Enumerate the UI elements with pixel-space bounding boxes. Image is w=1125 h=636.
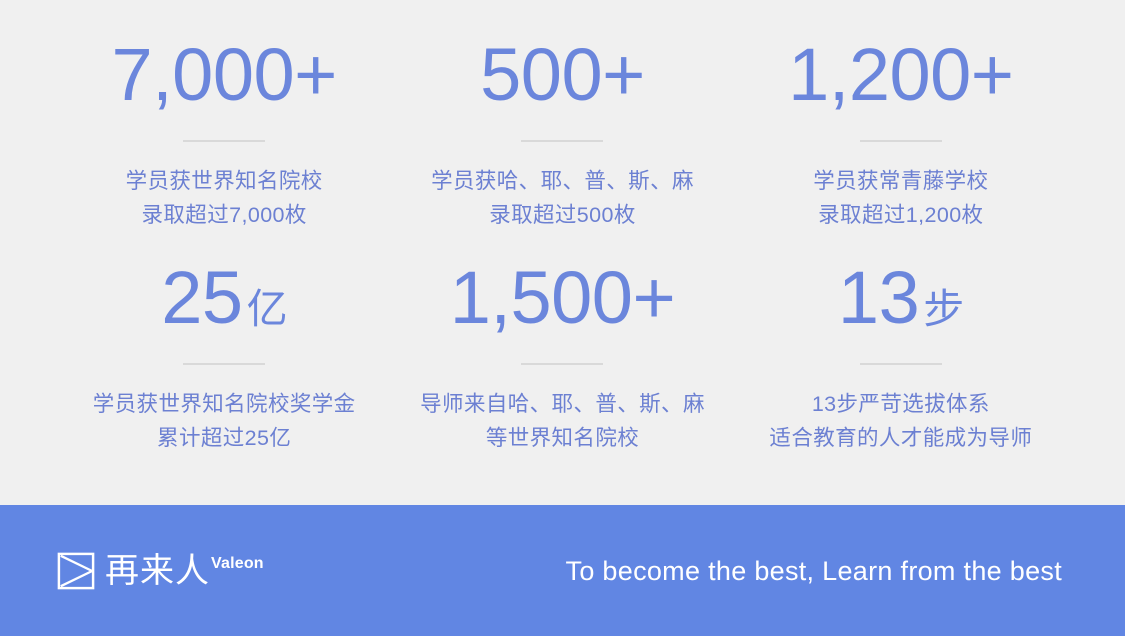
stat-description: 13步严苛选拔体系 适合教育的人才能成为导师: [769, 387, 1032, 455]
stat-description-line: 13步严苛选拔体系: [769, 387, 1032, 421]
stat-description-line: 适合教育的人才能成为导师: [769, 421, 1032, 455]
stat-value-number: 13: [838, 261, 919, 335]
footer-bar: 再来人 Valeon To become the best, Learn fro…: [0, 505, 1125, 636]
stat-value-number: 1,500+: [450, 261, 675, 335]
stat-card: 1,500+ 导师来自哈、耶、普、斯、麻 等世界知名院校: [393, 261, 731, 484]
stat-description-line: 录取超过7,000枚: [126, 198, 323, 232]
stat-description: 学员获常青藤学校 录取超过1,200枚: [813, 164, 988, 232]
stat-value-number: 25: [161, 261, 242, 335]
stat-divider: [860, 140, 942, 142]
stats-page: 7,000+ 学员获世界知名院校 录取超过7,000枚 500+ 学员获哈、耶、…: [0, 0, 1125, 636]
stat-description-line: 导师来自哈、耶、普、斯、麻: [420, 387, 705, 421]
stat-value-unit: 亿: [247, 289, 288, 330]
brand-name-cn: 再来人: [105, 552, 210, 590]
stat-value-number: 1,200+: [788, 38, 1013, 112]
stat-value: 7,000+: [111, 38, 336, 122]
stat-divider: [183, 140, 265, 142]
stat-divider: [860, 363, 942, 365]
brand-name-en: Valeon: [211, 554, 264, 574]
stat-card: 25 亿 学员获世界知名院校奖学金 累计超过25亿: [55, 261, 393, 484]
brand-wordmark: 再来人 Valeon: [105, 552, 264, 590]
stat-value-number: 500+: [480, 38, 645, 112]
stat-description-line: 学员获常青藤学校: [813, 164, 988, 198]
valeon-square-k-icon: [57, 552, 95, 590]
stat-card: 500+ 学员获哈、耶、普、斯、麻 录取超过500枚: [393, 38, 731, 261]
stat-card: 1,200+ 学员获常青藤学校 录取超过1,200枚: [732, 38, 1070, 261]
stat-description-line: 录取超过1,200枚: [813, 198, 988, 232]
stat-description: 学员获世界知名院校 录取超过7,000枚: [126, 164, 323, 232]
stat-value: 1,200+: [788, 38, 1013, 122]
stat-value: 1,500+: [450, 261, 675, 345]
brand-logo[interactable]: 再来人 Valeon: [57, 552, 264, 590]
stat-description-line: 学员获世界知名院校奖学金: [93, 387, 356, 421]
stat-card: 13 步 13步严苛选拔体系 适合教育的人才能成为导师: [732, 261, 1070, 484]
stats-grid: 7,000+ 学员获世界知名院校 录取超过7,000枚 500+ 学员获哈、耶、…: [55, 38, 1070, 484]
stat-description-line: 累计超过25亿: [93, 421, 356, 455]
stat-description-line: 学员获哈、耶、普、斯、麻: [431, 164, 694, 198]
stat-description: 学员获哈、耶、普、斯、麻 录取超过500枚: [431, 164, 694, 232]
stat-value: 13 步: [838, 261, 964, 345]
stat-description-line: 学员获世界知名院校: [126, 164, 323, 198]
stat-divider: [521, 363, 603, 365]
footer-tagline: To become the best, Learn from the best: [566, 554, 1062, 588]
stat-description: 导师来自哈、耶、普、斯、麻 等世界知名院校: [420, 387, 705, 455]
stat-value-number: 7,000+: [111, 38, 336, 112]
stat-description: 学员获世界知名院校奖学金 累计超过25亿: [93, 387, 356, 455]
stat-divider: [183, 363, 265, 365]
stat-value-unit: 步: [923, 289, 964, 330]
stat-card: 7,000+ 学员获世界知名院校 录取超过7,000枚: [55, 38, 393, 261]
stats-section: 7,000+ 学员获世界知名院校 录取超过7,000枚 500+ 学员获哈、耶、…: [0, 0, 1125, 505]
stat-divider: [521, 140, 603, 142]
stat-value: 25 亿: [161, 261, 287, 345]
stat-description-line: 录取超过500枚: [431, 198, 694, 232]
stat-description-line: 等世界知名院校: [420, 421, 705, 455]
stat-value: 500+: [480, 38, 645, 122]
